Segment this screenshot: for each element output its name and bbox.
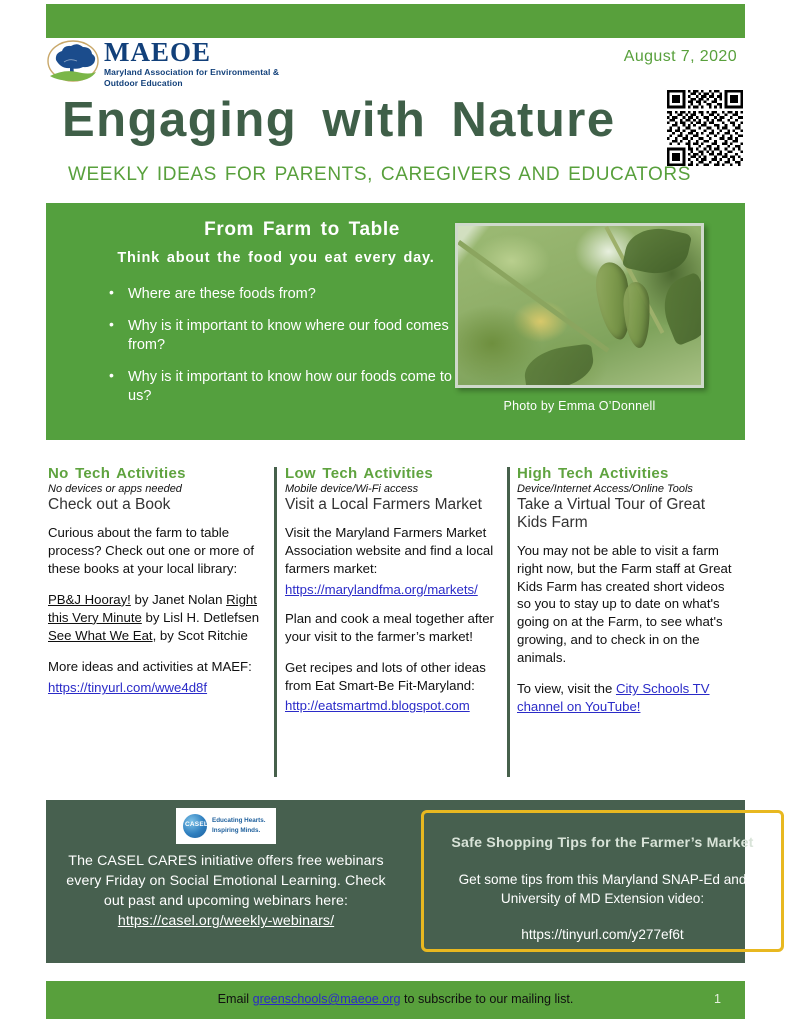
eatsmart-link[interactable]: http://eatsmartmd.blogspot.com xyxy=(285,698,501,713)
book-title: See What We Eat xyxy=(48,628,153,643)
feature-panel: From Farm to Table Think about the food … xyxy=(46,203,745,440)
contact-email-link[interactable]: greenschools@maeoe.org xyxy=(253,992,401,1006)
safe-shopping-tips-box: Safe Shopping Tips for the Farmer’s Mark… xyxy=(421,810,784,952)
column-paragraph: To view, visit the City Schools TV chann… xyxy=(517,680,737,716)
masthead: MAEOE Maryland Association for Environme… xyxy=(46,40,745,156)
footer-suffix: to subscribe to our mailing list. xyxy=(401,992,574,1006)
logo-row: MAEOE Maryland Association for Environme… xyxy=(46,40,745,88)
pod-shape xyxy=(622,281,651,348)
list-item: Where are these foods from? xyxy=(128,285,466,303)
footer-text: Email greenschools@maeoe.org to subscrib… xyxy=(46,992,745,1006)
book-author: by Lisl H. Detlefsen xyxy=(142,610,259,625)
column-heading: No Tech Activities xyxy=(48,465,264,482)
page-title: Engaging with Nature xyxy=(62,92,616,148)
casel-description: The CASEL CARES initiative offers free w… xyxy=(56,851,396,932)
brand-subtitle: Maryland Association for Environmental &… xyxy=(104,67,279,89)
column-subheading: Device/Internet Access/Online Tools xyxy=(517,483,737,495)
tagline: WEEKLY IDEAS FOR PARENTS, CAREGIVERS AND… xyxy=(68,164,691,186)
feature-title: From Farm to Table xyxy=(142,219,462,241)
brand-acronym: MAEOE xyxy=(104,38,279,66)
list-item: Why is it important to know how our food… xyxy=(128,368,466,405)
column-paragraph: You may not be able to visit a farm righ… xyxy=(517,542,737,668)
brand-subtitle-line2: Outdoor Education xyxy=(104,78,279,89)
top-green-rule xyxy=(46,4,745,38)
column-topic: Check out a Book xyxy=(48,496,264,514)
column-topic: Visit a Local Farmers Market xyxy=(285,496,501,514)
activity-columns: No Tech Activities No devices or apps ne… xyxy=(48,465,748,780)
page-number: 1 xyxy=(714,992,721,1006)
column-no-tech: No Tech Activities No devices or apps ne… xyxy=(48,465,264,780)
casel-description-text: The CASEL CARES initiative offers free w… xyxy=(66,853,385,909)
view-prefix: To view, visit the xyxy=(517,681,616,696)
column-heading: Low Tech Activities xyxy=(285,465,501,482)
book-author: , by Scot Ritchie xyxy=(153,628,248,643)
book-author: by Janet Nolan xyxy=(131,592,223,607)
title-row: Engaging with Nature xyxy=(46,94,745,156)
leaf-shape xyxy=(522,343,597,385)
column-subheading: Mobile device/Wi-Fi access xyxy=(285,483,501,495)
casel-logo: CASEL Educating Hearts. Inspiring Minds. xyxy=(176,808,276,844)
tree-logo-icon xyxy=(46,40,100,84)
column-paragraph: Visit the Maryland Farmers Market Associ… xyxy=(285,524,501,578)
column-closing: More ideas and activities at MAEF: xyxy=(48,658,264,676)
newsletter-page: MAEOE Maryland Association for Environme… xyxy=(0,0,791,1024)
casel-tagline-line1: Educating Hearts. xyxy=(212,816,266,826)
column-subheading: No devices or apps needed xyxy=(48,483,264,495)
column-heading: High Tech Activities xyxy=(517,465,737,482)
book-list: PB&J Hooray! by Janet Nolan Right this V… xyxy=(48,591,264,645)
tips-title: Safe Shopping Tips for the Farmer’s Mark… xyxy=(424,835,781,851)
column-paragraph: Get recipes and lots of other ideas from… xyxy=(285,659,501,695)
tips-url[interactable]: https://tinyurl.com/y277ef6t xyxy=(424,927,781,942)
column-divider xyxy=(507,467,510,777)
casel-wordmark: CASEL xyxy=(185,821,206,828)
casel-tagline: Educating Hearts. Inspiring Minds. xyxy=(212,816,266,836)
column-paragraph: Curious about the farm to table process?… xyxy=(48,524,264,578)
footer-bar: Email greenschools@maeoe.org to subscrib… xyxy=(46,981,745,1019)
feature-question-list: Where are these foods from? Why is it im… xyxy=(96,285,466,419)
feature-subtitle: Think about the food you eat every day. xyxy=(86,250,466,266)
tips-body: Get some tips from this Maryland SNAP-Ed… xyxy=(440,871,765,909)
casel-block: CASEL Educating Hearts. Inspiring Minds.… xyxy=(56,808,396,932)
column-divider xyxy=(274,467,277,777)
stem-shape xyxy=(458,240,610,353)
issue-date: August 7, 2020 xyxy=(624,48,737,66)
list-item: Why is it important to know where our fo… xyxy=(128,317,466,354)
column-paragraph: Plan and cook a meal together after your… xyxy=(285,610,501,646)
resources-panel: CASEL Educating Hearts. Inspiring Minds.… xyxy=(46,800,745,963)
column-topic: Take a Virtual Tour of Great Kids Farm xyxy=(517,496,737,532)
soybean-pod-photo xyxy=(458,226,701,385)
column-low-tech: Low Tech Activities Mobile device/Wi-Fi … xyxy=(285,465,501,780)
column-high-tech: High Tech Activities Device/Internet Acc… xyxy=(517,465,737,780)
photo-credit: Photo by Emma O’Donnell xyxy=(455,399,704,413)
casel-webinars-link[interactable]: https://casel.org/weekly-webinars/ xyxy=(118,913,334,929)
leaf-shape xyxy=(654,272,701,347)
brand-subtitle-line1: Maryland Association for Environmental & xyxy=(104,67,279,78)
maef-link[interactable]: https://tinyurl.com/wwe4d8f xyxy=(48,680,207,695)
farmers-market-link[interactable]: https://marylandfma.org/markets/ xyxy=(285,582,501,597)
footer-prefix: Email xyxy=(218,992,253,1006)
book-title: PB&J Hooray! xyxy=(48,592,131,607)
feature-photo xyxy=(455,223,704,388)
casel-tagline-line2: Inspiring Minds. xyxy=(212,826,266,836)
qr-code-icon[interactable] xyxy=(667,90,743,166)
brand-text: MAEOE Maryland Association for Environme… xyxy=(104,38,279,89)
